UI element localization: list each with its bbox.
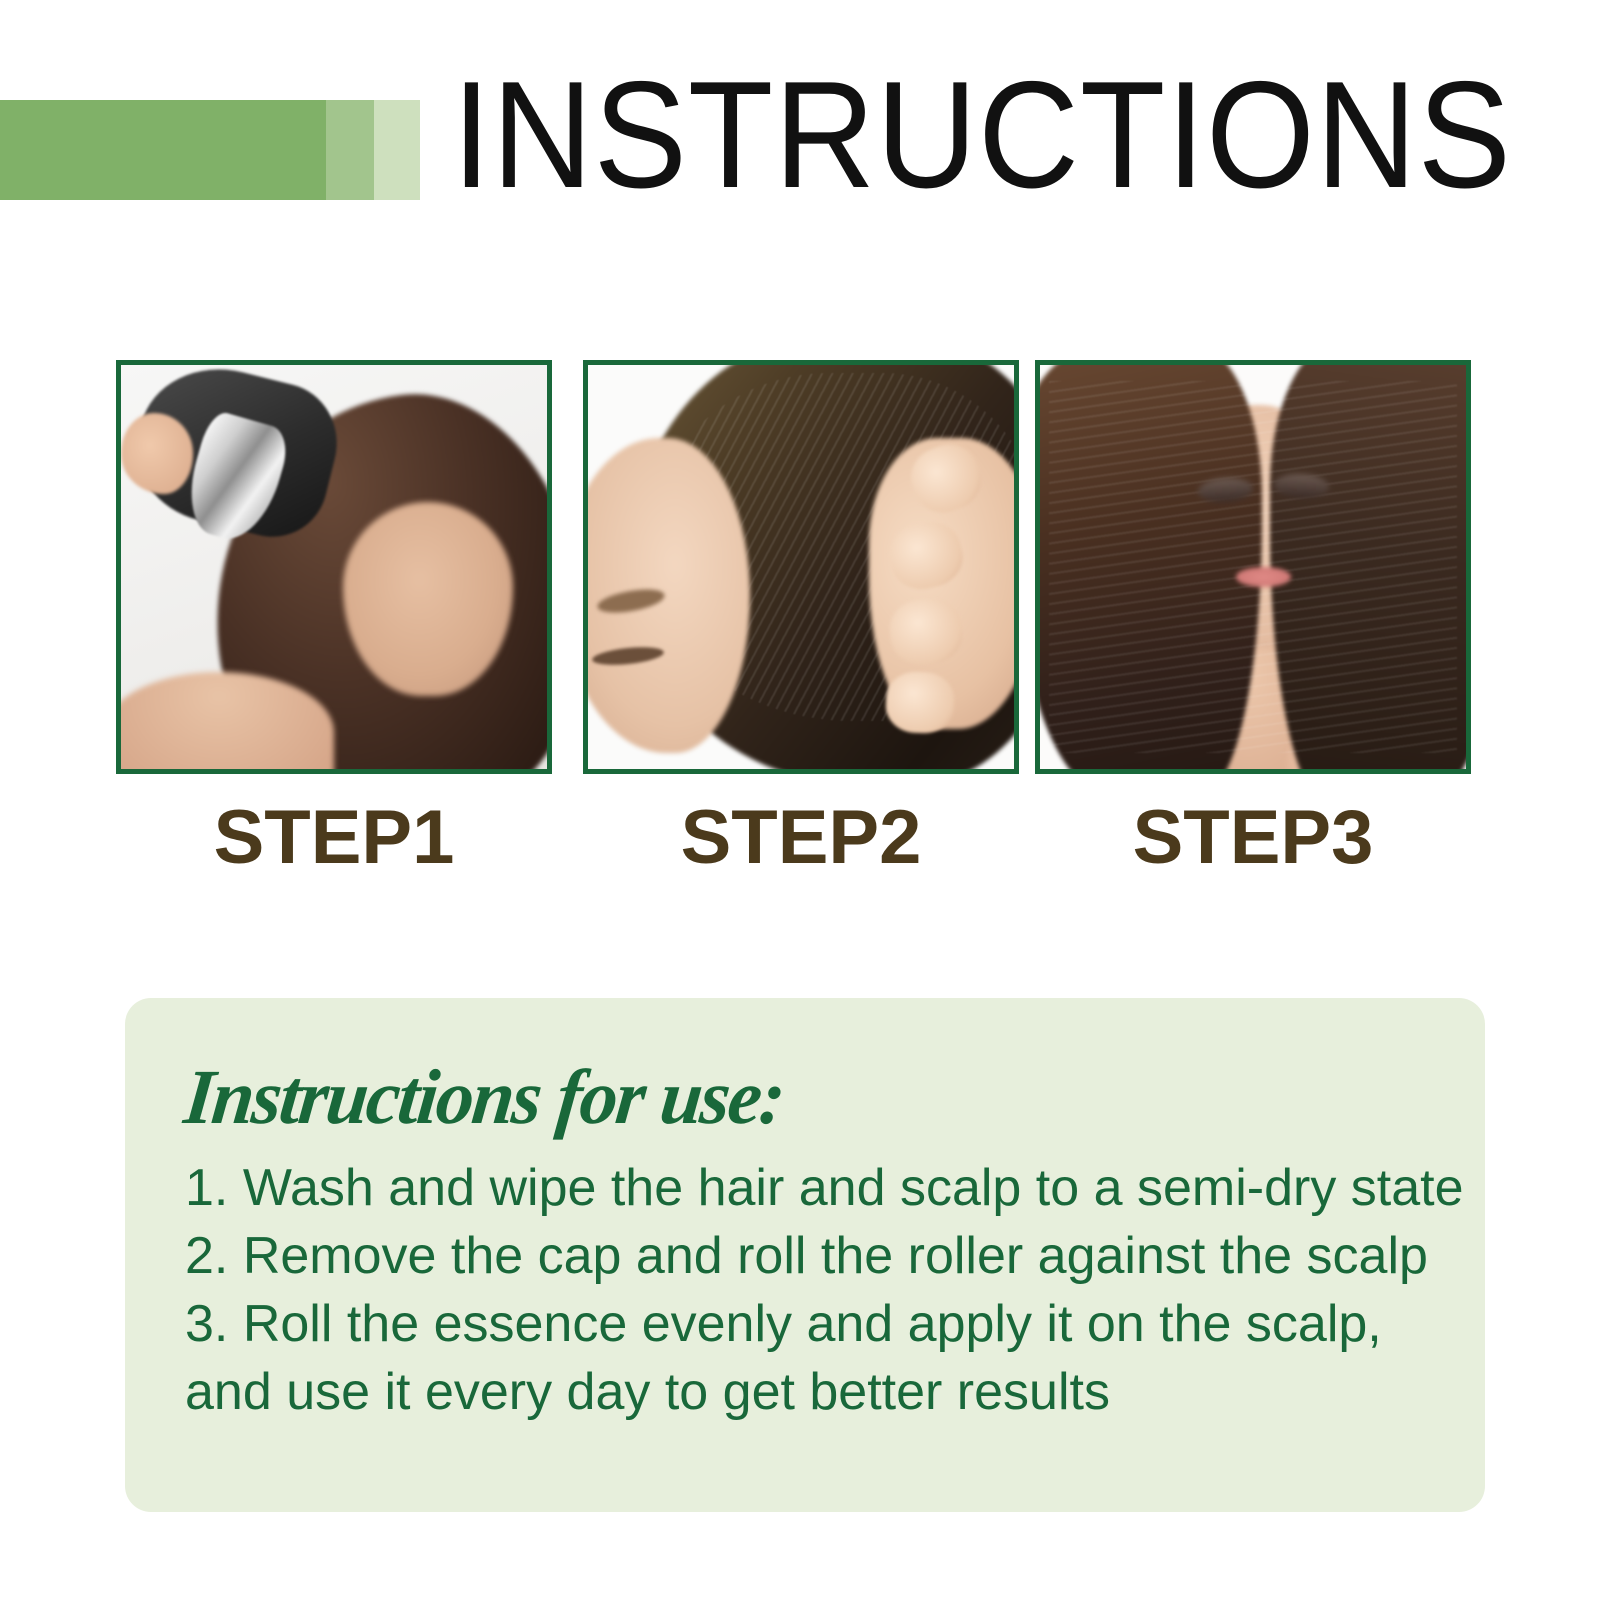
step-label-3: STEP3 [1035, 796, 1471, 880]
accent-bar-segment-light [374, 100, 420, 200]
accent-bar [0, 100, 420, 200]
accent-bar-segment-medium [326, 100, 374, 200]
instructions-panel: Instructions for use: 1. Wash and wipe t… [125, 998, 1485, 1512]
step2-photo-frame [583, 360, 1019, 774]
step-item-3: STEP3 [1035, 360, 1471, 880]
step2-photo-parting-scalp [588, 365, 1014, 769]
instructions-panel-title: Instructions for use: [180, 1054, 1392, 1140]
step3-photo-healthy-hair-result [1040, 365, 1466, 769]
step-label-1: STEP1 [116, 796, 552, 880]
step1-face-shape [343, 502, 513, 696]
instructions-list-item: 3. Roll the essence evenly and apply it … [185, 1290, 1415, 1426]
steps-row: STEP1 STEP2 [116, 360, 1474, 900]
step-label-2: STEP2 [583, 796, 1019, 880]
step1-photo-frame [116, 360, 552, 774]
step-item-2: STEP2 [583, 360, 1019, 880]
step2-finger-4 [885, 671, 955, 734]
accent-bar-segment-dark [0, 100, 326, 200]
instructions-infographic: INSTRUCTIONS STEP1 [0, 0, 1601, 1601]
step3-photo-frame [1035, 360, 1471, 774]
page-title: INSTRUCTIONS [452, 60, 1280, 210]
instructions-list-item: 1. Wash and wipe the hair and scalp to a… [185, 1154, 1425, 1222]
instructions-list-item: 2. Remove the cap and roll the roller ag… [185, 1222, 1425, 1290]
step-item-1: STEP1 [116, 360, 552, 880]
instructions-list: 1. Wash and wipe the hair and scalp to a… [185, 1154, 1425, 1426]
step1-photo-blow-drying-hair [121, 365, 547, 769]
